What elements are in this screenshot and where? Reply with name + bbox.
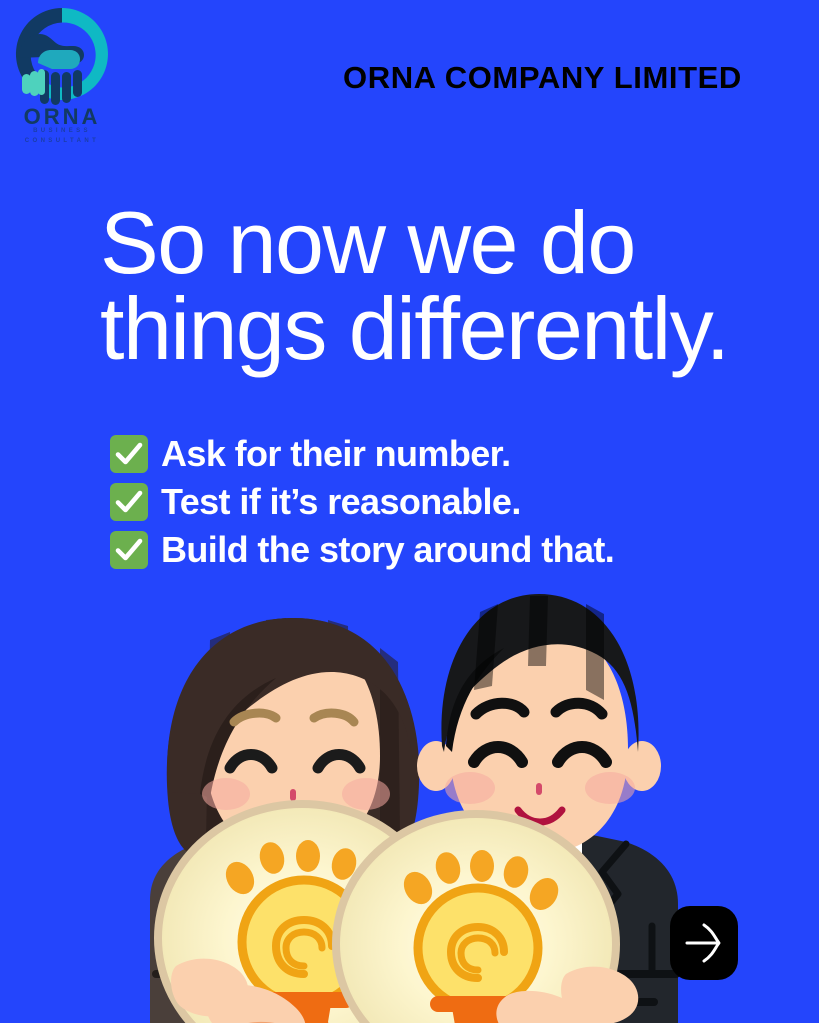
logo-tagline-line-2: CONSULTANT xyxy=(4,136,120,146)
headline-line-2: things differently. xyxy=(100,286,800,372)
check-mark-icon xyxy=(110,435,148,473)
company-name-title: ORNA COMPANY LIMITED xyxy=(343,60,742,96)
checklist-item: Ask for their number. xyxy=(110,430,614,478)
slide-canvas: ORNA BUSINESS CONSULTANT ORNA COMPANY LI… xyxy=(0,0,819,1023)
checklist-item: Test if it’s reasonable. xyxy=(110,478,614,526)
headline-line-1: So now we do xyxy=(100,200,800,286)
brand-logo: ORNA BUSINESS CONSULTANT xyxy=(4,2,120,147)
curved-arrow-right-icon xyxy=(670,917,738,969)
next-slide-button[interactable] xyxy=(670,906,738,980)
handshake-circle-logo-icon xyxy=(4,2,120,110)
check-mark-icon xyxy=(110,531,148,569)
logo-tagline: BUSINESS CONSULTANT xyxy=(4,126,120,146)
checklist: Ask for their number. Test if it’s reaso… xyxy=(110,430,614,574)
checklist-item: Build the story around that. xyxy=(110,526,614,574)
checklist-item-label: Build the story around that. xyxy=(161,529,614,571)
headline: So now we do things differently. xyxy=(100,200,800,372)
check-mark-icon xyxy=(110,483,148,521)
two-business-people-holding-lightbulbs-illustration xyxy=(80,570,680,1023)
logo-tagline-line-1: BUSINESS xyxy=(4,126,120,136)
checklist-item-label: Test if it’s reasonable. xyxy=(161,481,521,523)
logo-wordmark: ORNA xyxy=(4,106,120,128)
checklist-item-label: Ask for their number. xyxy=(161,433,510,475)
